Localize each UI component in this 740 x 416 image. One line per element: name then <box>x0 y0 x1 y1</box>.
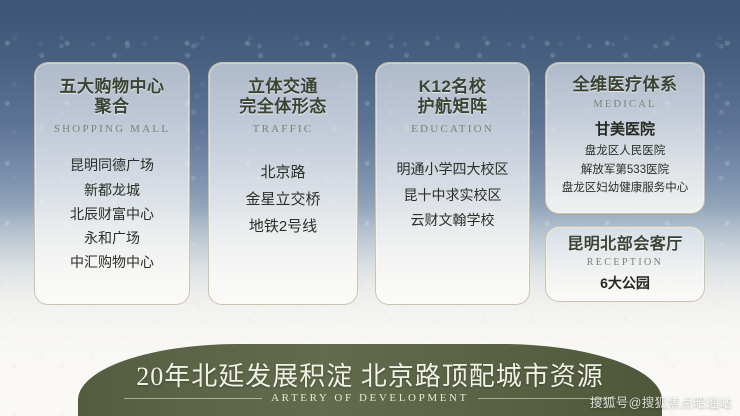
banner-subtitle-row: ARTERY OF DEVELOPMENT <box>78 392 662 404</box>
card-subtitle: RECEPTION <box>552 257 698 268</box>
card-item-list: 明通小学四大校区 昆十中求实校区 云财文翰学校 <box>382 157 523 233</box>
card-title: K12名校 护航矩阵 <box>382 77 523 116</box>
card-item-list: 北京路 金星立交桥 地铁2号线 <box>217 159 349 240</box>
card-title: 五大购物中心 聚合 <box>43 77 181 116</box>
card-title-line1: 全维医疗体系 <box>552 75 698 95</box>
card-traffic: 立体交通 完全体形态 TRAFFIC 北京路 金星立交桥 地铁2号线 <box>208 62 358 305</box>
card-reception: 昆明北部会客厅 RECEPTION 6大公园 <box>545 226 705 302</box>
list-item: 6大公园 <box>552 272 698 295</box>
card-title-line1: K12名校 <box>382 77 523 97</box>
card-title-line2: 聚合 <box>43 97 181 117</box>
list-item: 永和广场 <box>43 226 181 250</box>
card-item-list: 昆明同德广场 新都龙城 北辰财富中心 永和广场 中汇购物中心 <box>43 153 181 273</box>
list-item: 中汇购物中心 <box>43 250 181 274</box>
card-title-line2: 完全体形态 <box>217 97 349 117</box>
card-subtitle: TRAFFIC <box>217 123 349 135</box>
list-item: 北京路 <box>217 159 349 186</box>
list-item: 昆明同德广场 <box>43 153 181 177</box>
list-item: 金星立交桥 <box>217 186 349 213</box>
list-item: 解放军第533医院 <box>552 161 698 180</box>
list-item: 云财文翰学校 <box>382 208 523 233</box>
card-title-line2: 护航矩阵 <box>382 97 523 117</box>
banner-rule-left <box>124 398 262 399</box>
card-shopping-mall: 五大购物中心 聚合 SHOPPING MALL 昆明同德广场 新都龙城 北辰财富… <box>34 62 190 305</box>
list-item: 盘龙区人民医院 <box>552 142 698 161</box>
banner-title: 20年北延发展积淀 北京路顶配城市资源 <box>78 356 662 393</box>
poster-canvas: 五大购物中心 聚合 SHOPPING MALL 昆明同德广场 新都龙城 北辰财富… <box>0 0 740 416</box>
card-title: 立体交通 完全体形态 <box>217 77 349 116</box>
card-subtitle: MEDICAL <box>552 99 698 110</box>
list-item: 盘龙区妇幼健康服务中心 <box>552 179 698 198</box>
card-subtitle: EDUCATION <box>382 123 523 135</box>
list-item: 明通小学四大校区 <box>382 157 523 182</box>
card-item-list: 6大公园 <box>552 272 698 295</box>
card-education: K12名校 护航矩阵 EDUCATION 明通小学四大校区 昆十中求实校区 云财… <box>375 62 530 305</box>
card-medical: 全维医疗体系 MEDICAL 甘美医院 盘龙区人民医院 解放军第533医院 盘龙… <box>545 62 705 214</box>
card-title-line1: 立体交通 <box>217 77 349 97</box>
bottom-banner: 20年北延发展积淀 北京路顶配城市资源 ARTERY OF DEVELOPMEN… <box>78 344 662 416</box>
list-item: 北辰财富中心 <box>43 202 181 226</box>
list-item: 地铁2号线 <box>217 213 349 240</box>
card-title: 昆明北部会客厅 <box>552 236 698 255</box>
watermark-text: 搜狐号@搜狐焦点昭通站 <box>590 392 732 411</box>
card-item-list: 甘美医院 盘龙区人民医院 解放军第533医院 盘龙区妇幼健康服务中心 <box>552 119 698 198</box>
list-item: 新都龙城 <box>43 178 181 202</box>
card-title: 全维医疗体系 <box>552 75 698 95</box>
card-title-line1: 五大购物中心 <box>43 77 181 97</box>
card-title-line1: 昆明北部会客厅 <box>552 236 698 255</box>
list-item: 昆十中求实校区 <box>382 183 523 208</box>
card-subtitle: SHOPPING MALL <box>43 123 181 135</box>
card-lead-item: 甘美医院 <box>552 119 698 142</box>
banner-subtitle: ARTERY OF DEVELOPMENT <box>271 392 469 404</box>
